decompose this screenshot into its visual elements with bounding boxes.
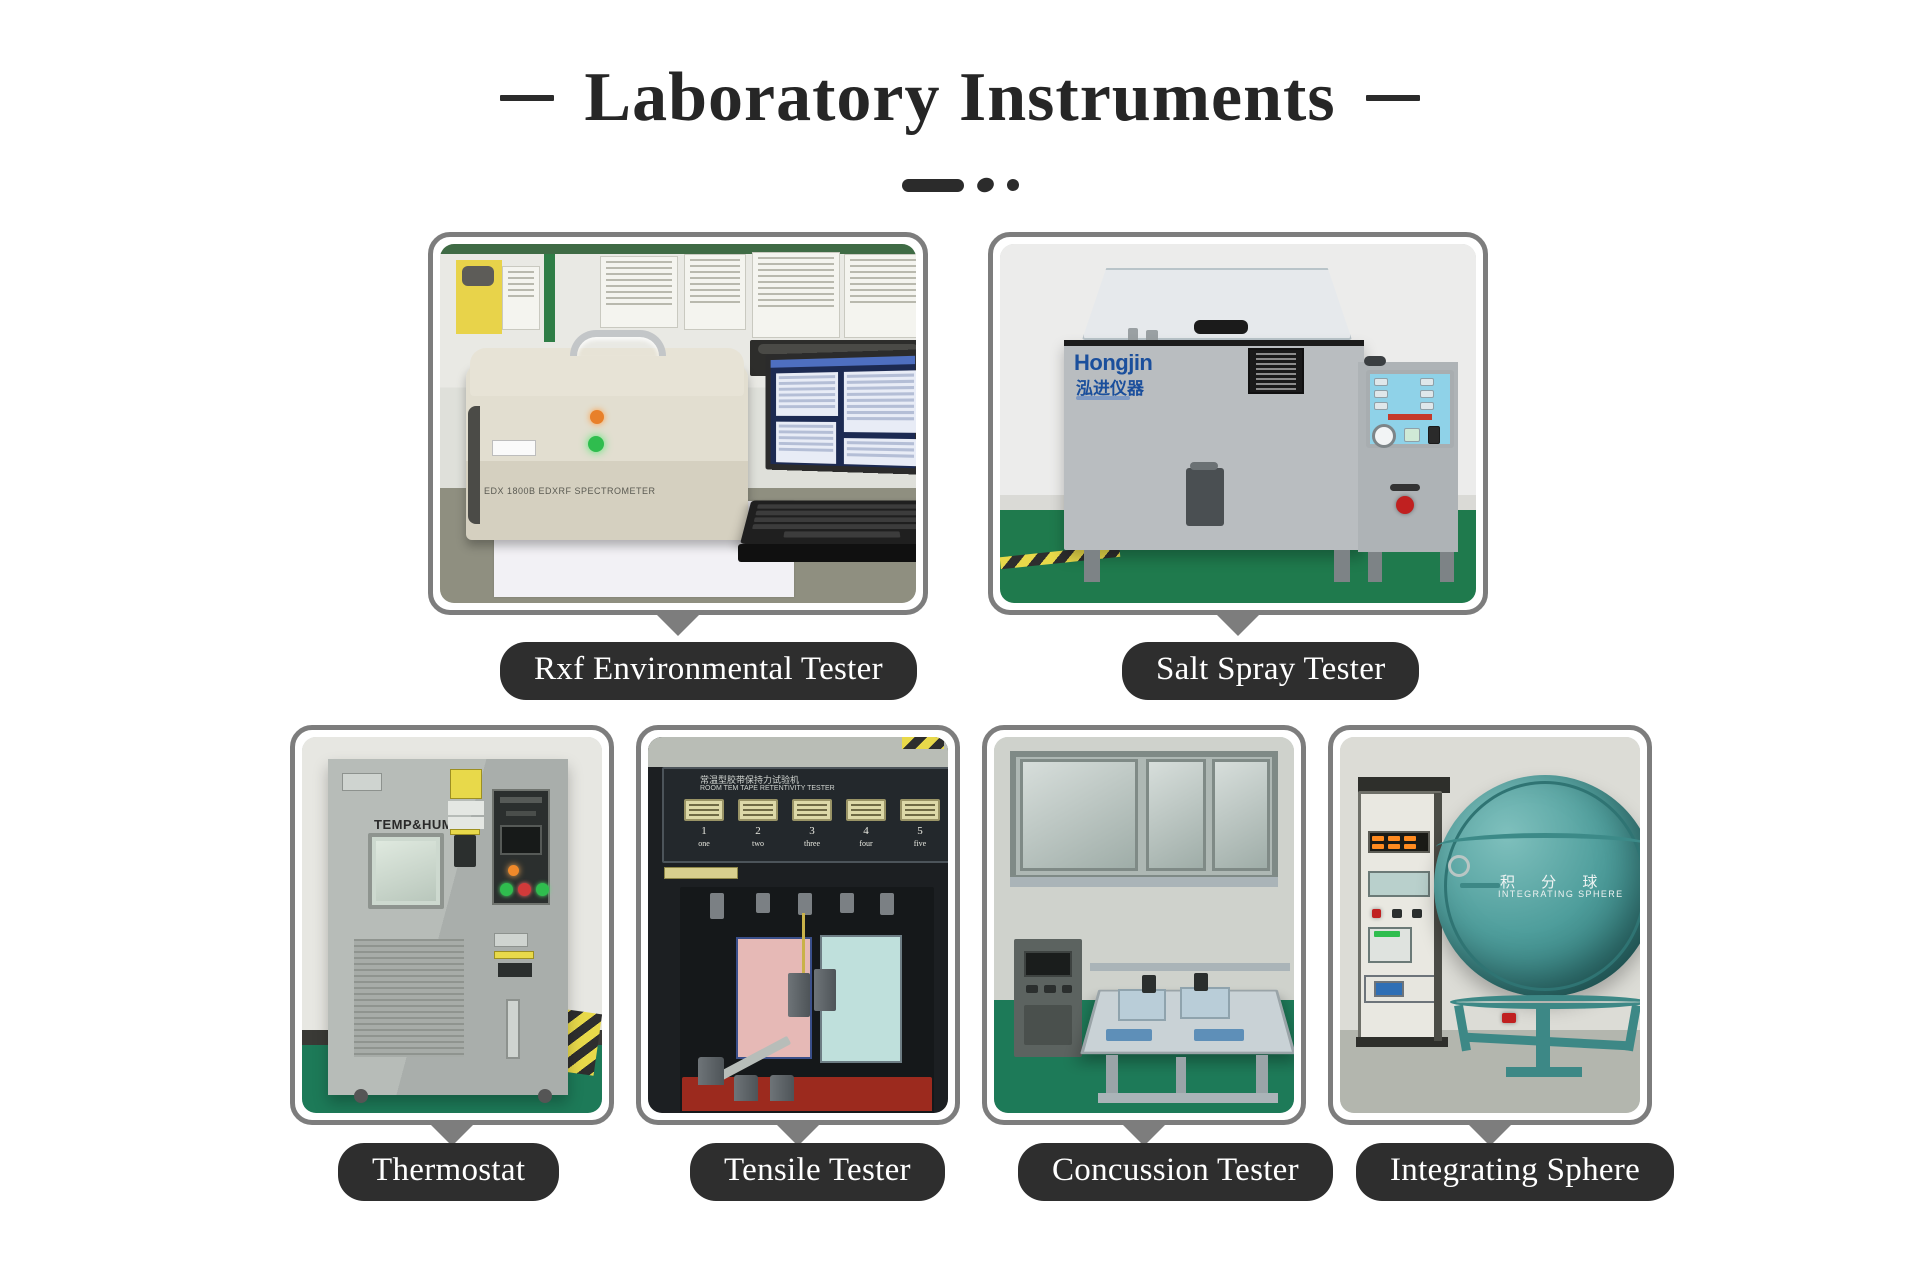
title-dash-left: [500, 95, 554, 101]
decoration-bar: [902, 179, 964, 192]
pointer-salt-spray-tester: [1212, 610, 1264, 636]
decoration-dot-small: [1007, 179, 1019, 191]
brand-logo-text: Hongjin: [1074, 350, 1152, 376]
pointer-rxf-environmental-tester: [652, 610, 704, 636]
page-header: Laboratory Instruments: [0, 58, 1920, 138]
sphere-label-en: INTEGRATING SPHERE: [1498, 889, 1624, 899]
photo-rxf-environmental-tester: EDX 1800B EDXRF SPECTROMETER: [440, 244, 916, 603]
photo-salt-spray-tester: Hongjin 泓进仪器: [1000, 244, 1476, 603]
card-concussion-tester[interactable]: [982, 725, 1306, 1125]
station-number-3: 3: [792, 825, 832, 837]
card-rxf-environmental-tester[interactable]: EDX 1800B EDXRF SPECTROMETER: [428, 232, 928, 615]
card-thermostat[interactable]: TEMP&HUM I: [290, 725, 614, 1125]
station-word-1: one: [684, 839, 724, 848]
station-number-5: 5: [900, 825, 940, 837]
label-integrating-sphere[interactable]: Integrating Sphere: [1356, 1143, 1674, 1201]
card-salt-spray-tester[interactable]: Hongjin 泓进仪器: [988, 232, 1488, 615]
infographic-page: Laboratory Instruments: [0, 0, 1920, 1286]
decoration-dot-large: [975, 176, 996, 195]
station-word-2: two: [738, 839, 778, 848]
card-integrating-sphere[interactable]: 积 分 球 INTEGRATING SPHERE: [1328, 725, 1652, 1125]
label-thermostat[interactable]: Thermostat: [338, 1143, 559, 1201]
photo-integrating-sphere: 积 分 球 INTEGRATING SPHERE: [1340, 737, 1640, 1113]
label-rxf-environmental-tester[interactable]: Rxf Environmental Tester: [500, 642, 917, 700]
header-decoration: [0, 178, 1920, 192]
label-salt-spray-tester[interactable]: Salt Spray Tester: [1122, 642, 1419, 700]
instrument-model-text: EDX 1800B EDXRF SPECTROMETER: [484, 486, 656, 496]
station-word-5: five: [900, 839, 940, 848]
station-number-4: 4: [846, 825, 886, 837]
title-dash-right: [1366, 95, 1420, 101]
page-title: Laboratory Instruments: [584, 58, 1335, 138]
card-tensile-tester[interactable]: 常温型胶带保持力试验机 ROOM TEM TAPE RETENTIVITY TE…: [636, 725, 960, 1125]
station-word-3: three: [792, 839, 832, 848]
photo-tensile-tester: 常温型胶带保持力试验机 ROOM TEM TAPE RETENTIVITY TE…: [648, 737, 948, 1113]
label-tensile-tester[interactable]: Tensile Tester: [690, 1143, 945, 1201]
panel-title-en: ROOM TEM TAPE RETENTIVITY TESTER: [700, 785, 835, 792]
station-word-4: four: [846, 839, 886, 848]
station-number-2: 2: [738, 825, 778, 837]
photo-concussion-tester: [994, 737, 1294, 1113]
label-concussion-tester[interactable]: Concussion Tester: [1018, 1143, 1333, 1201]
photo-thermostat: TEMP&HUM I: [302, 737, 602, 1113]
station-number-1: 1: [684, 825, 724, 837]
